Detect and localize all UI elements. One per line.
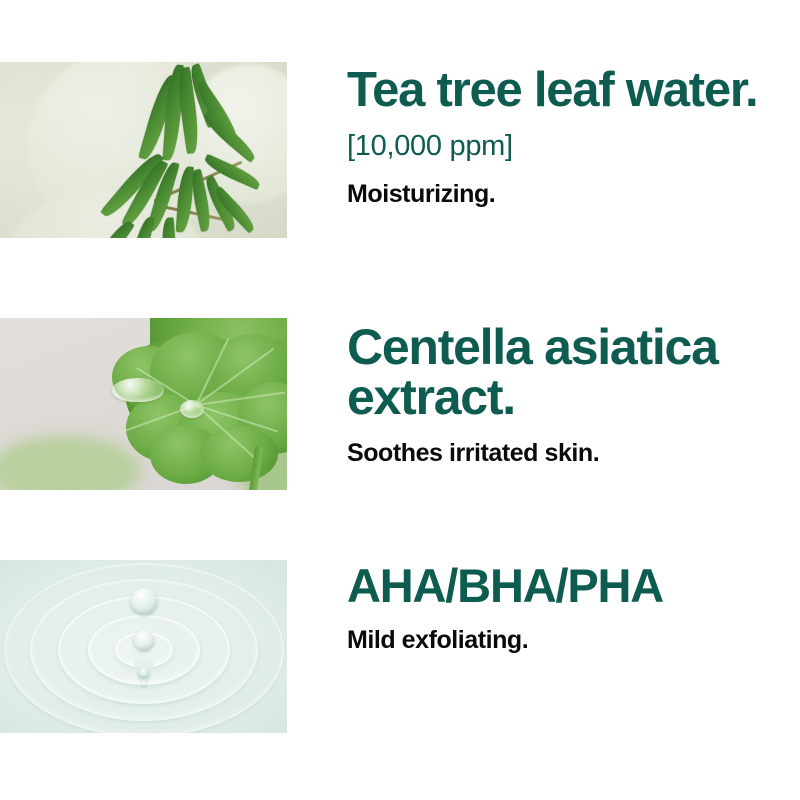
ingredient-text-block: Centella asiatica extract. Soothes irrit… (347, 322, 796, 468)
ingredient-headline: Tea tree leaf water. [10,000 ppm] (347, 66, 796, 164)
ingredient-headline-text: Tea tree leaf water. (347, 63, 757, 117)
ingredient-row: Tea tree leaf water. [10,000 ppm] Moistu… (0, 62, 800, 238)
ingredient-headline: AHA/BHA/PHA (347, 562, 796, 609)
ingredient-headline: Centella asiatica extract. (347, 322, 796, 422)
ingredient-row: AHA/BHA/PHA Mild exfoliating. (0, 560, 800, 733)
ingredient-text-block: Tea tree leaf water. [10,000 ppm] Moistu… (347, 66, 796, 209)
water-droplet-ripple-photo (0, 560, 287, 733)
centella-leaf-with-water-droplets-photo (0, 318, 287, 490)
ingredient-subline: Moisturizing. (347, 180, 796, 209)
tea-tree-sprig-photo (0, 62, 287, 238)
ingredient-subline: Soothes irritated skin. (347, 439, 796, 468)
ingredient-amount: [10,000 ppm] (347, 130, 513, 162)
ingredient-text-block: AHA/BHA/PHA Mild exfoliating. (347, 562, 796, 655)
ingredient-row: Centella asiatica extract. Soothes irrit… (0, 318, 800, 490)
ingredient-subline: Mild exfoliating. (347, 626, 796, 655)
ingredient-list: Tea tree leaf water. [10,000 ppm] Moistu… (0, 0, 800, 800)
